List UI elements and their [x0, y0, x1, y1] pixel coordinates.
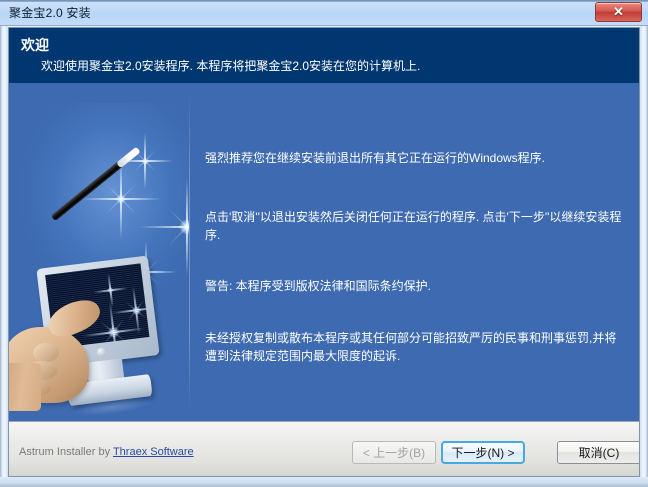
back-button[interactable]: < 上一步(B)	[352, 441, 436, 464]
vendor-link[interactable]: Thraex Software	[113, 446, 194, 458]
paragraph-warning: 警告: 本程序受到版权法律和国际条约保护.	[205, 277, 625, 295]
close-button[interactable]: ✕	[595, 2, 642, 22]
installer-window: 聚金宝2.0 安装 ✕ 欢迎 欢迎使用聚金宝2.0安装程序. 本程序将把聚金宝2…	[0, 0, 648, 487]
hand-knuckle	[33, 343, 59, 362]
hand-wrist	[9, 363, 41, 411]
hand-icon	[9, 299, 109, 411]
paragraph-legal: 未经授权复制或散布本程序或其任何部分可能招致严厉的民事和刑事惩罚,并将遭到法律规…	[205, 329, 625, 365]
paragraph-instructions: 点击'取消''以退出安装然后关闭任何正在运行的程序. 点击'下一步''以继续安装…	[205, 208, 625, 244]
next-button[interactable]: 下一步(N) >	[441, 441, 525, 464]
titlebar-top-highlight	[0, 0, 648, 2]
window-frame-left	[0, 26, 8, 487]
client-area: 欢迎 欢迎使用聚金宝2.0安装程序. 本程序将把聚金宝2.0安装在您的计算机上.	[8, 27, 640, 477]
wizard-body: 强烈推荐您在继续安装前退出所有其它正在运行的Windows程序. 点击'取消''…	[9, 83, 640, 421]
panel-divider	[189, 93, 190, 411]
page-title: 欢迎	[21, 35, 49, 55]
credit-prefix: Astrum Installer by	[19, 446, 113, 458]
footer-bar: Astrum Installer by Thraex Software < 上一…	[9, 421, 640, 477]
close-icon: ✕	[596, 3, 641, 21]
welcome-text-column: 强烈推荐您在继续安装前退出所有其它正在运行的Windows程序. 点击'取消''…	[205, 83, 640, 421]
window-frame-right	[640, 26, 648, 487]
installer-credit: Astrum Installer by Thraex Software	[19, 446, 194, 458]
cancel-button[interactable]: 取消(C)	[557, 441, 640, 464]
header-banner: 欢迎 欢迎使用聚金宝2.0安装程序. 本程序将把聚金宝2.0安装在您的计算机上.	[9, 28, 640, 83]
page-subtitle: 欢迎使用聚金宝2.0安装程序. 本程序将把聚金宝2.0安装在您的计算机上.	[41, 57, 420, 74]
paragraph-recommendation: 强烈推荐您在继续安装前退出所有其它正在运行的Windows程序.	[205, 149, 625, 167]
title-bar[interactable]: 聚金宝2.0 安装 ✕	[0, 0, 648, 26]
welcome-illustration	[9, 83, 189, 421]
window-frame-bottom	[0, 477, 648, 487]
window-title: 聚金宝2.0 安装	[9, 4, 91, 21]
